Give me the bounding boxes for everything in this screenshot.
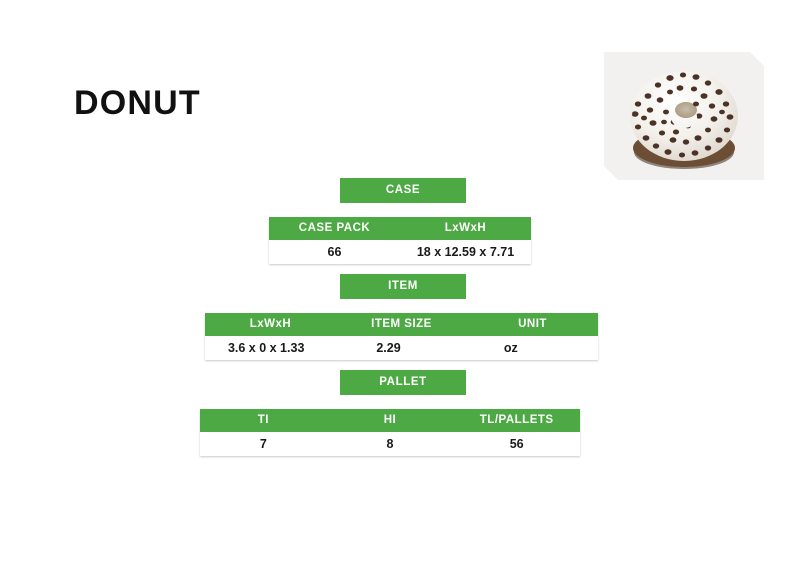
value-case-lxwxh: 18 x 12.59 x 7.71 [400, 240, 531, 264]
table-header-row: CASE PACK LxWxH [269, 217, 531, 240]
page-title: DONUT [74, 86, 201, 120]
table-header-row: LxWxH ITEM SIZE UNIT [205, 313, 598, 336]
value-hi: 8 [327, 432, 454, 456]
spec-table-item: LxWxH ITEM SIZE UNIT 3.6 x 0 x 1.33 2.29… [205, 313, 598, 360]
value-ti: 7 [200, 432, 327, 456]
section-label-item: ITEM [340, 274, 466, 299]
spec-table-pallet: TI HI TL/PALLETS 7 8 56 [200, 409, 580, 456]
donut-photo [604, 52, 764, 180]
column-header-item-unit: UNIT [467, 313, 598, 336]
value-tl-pallets: 56 [453, 432, 580, 456]
spec-group-item: ITEM LxWxH ITEM SIZE UNIT 3.6 x 0 x 1.33… [0, 274, 800, 370]
column-header-case-lxwxh: LxWxH [400, 217, 531, 240]
value-case-pack: 66 [269, 240, 400, 264]
spec-diagram: CASE CASE PACK LxWxH 66 18 x 12.59 x 7.7… [0, 178, 800, 466]
column-header-ti: TI [200, 409, 327, 432]
spec-group-pallet: PALLET TI HI TL/PALLETS 7 8 56 [0, 370, 800, 466]
table-header-row: TI HI TL/PALLETS [200, 409, 580, 432]
table-row: 7 8 56 [200, 432, 580, 456]
section-label-pallet: PALLET [340, 370, 466, 395]
value-item-lxwxh: 3.6 x 0 x 1.33 [205, 336, 327, 360]
value-item-unit: oz [450, 336, 598, 360]
column-header-hi: HI [327, 409, 454, 432]
product-image-inner [604, 52, 764, 180]
column-header-case-pack: CASE PACK [269, 217, 400, 240]
table-row: 3.6 x 0 x 1.33 2.29 oz [205, 336, 598, 360]
spec-table-case: CASE PACK LxWxH 66 18 x 12.59 x 7.71 [269, 217, 531, 264]
value-item-size: 2.29 [327, 336, 449, 360]
section-label-case: CASE [340, 178, 466, 203]
table-row: 66 18 x 12.59 x 7.71 [269, 240, 531, 264]
column-header-tl-pallets: TL/PALLETS [453, 409, 580, 432]
column-header-item-lxwxh: LxWxH [205, 313, 336, 336]
column-header-item-size: ITEM SIZE [336, 313, 467, 336]
spec-group-case: CASE CASE PACK LxWxH 66 18 x 12.59 x 7.7… [0, 178, 800, 274]
product-image-frame [598, 46, 770, 186]
